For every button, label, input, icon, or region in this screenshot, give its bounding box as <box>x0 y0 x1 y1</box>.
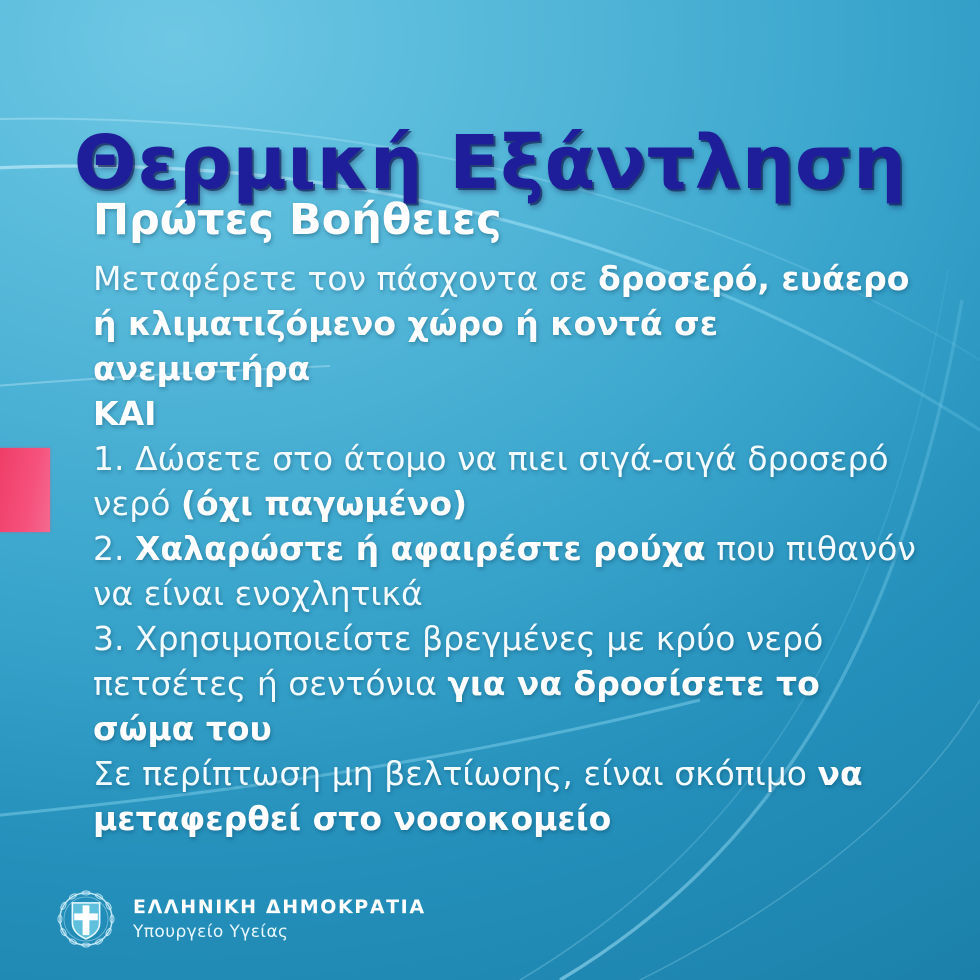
instruction-item-2: 2. Χαλαρώστε ή αφαιρέστε ρούχα που πιθαν… <box>93 526 920 616</box>
footer-text-group: ΕΛΛΗΝΙΚΗ ΔΗΜΟΚΡΑΤΙΑ Υπουργείο Υγείας <box>133 896 426 941</box>
item-1-bold: (όχι παγωμένο) <box>181 484 467 523</box>
instruction-item-3: 3. Χρησιμοποιείστε βρεγμένες με κρύο νερ… <box>93 616 920 751</box>
footer-branding: ΕΛΛΗΝΙΚΗ ΔΗΜΟΚΡΑΤΙΑ Υπουργείο Υγείας <box>55 888 426 950</box>
greek-coat-of-arms-icon <box>55 888 117 950</box>
closing-advice: Σε περίπτωση μη βελτίωσης, είναι σκόπιμο… <box>93 751 920 841</box>
conjunction-kai: ΚΑΙ <box>93 391 920 436</box>
pink-arrow-accent <box>0 448 50 532</box>
footer-ministry: Υπουργείο Υγείας <box>133 922 426 942</box>
section-subtitle: Πρώτες Βοήθειες <box>93 196 920 244</box>
closing-regular: Σε περίπτωση μη βελτίωσης, είναι σκόπιμο <box>93 754 817 793</box>
item-2-bold: Χαλαρώστε ή αφαιρέστε ρούχα <box>135 529 706 568</box>
instruction-item-1: 1. Δώσετε στο άτομο να πιει σιγά-σιγά δρ… <box>93 436 920 526</box>
instruction-transfer: Μεταφέρετε τον πάσχοντα σε δροσερό, ευάε… <box>93 256 920 391</box>
footer-organization: ΕΛΛΗΝΙΚΗ ΔΗΜΟΚΡΑΤΙΑ <box>133 896 426 918</box>
item-2-number: 2. <box>93 529 135 568</box>
page-title: Θερμική Εξάντληση <box>0 120 980 206</box>
poster-canvas: Θερμική Εξάντληση Πρώτες Βοήθειες Μεταφέ… <box>0 0 980 980</box>
instruction-transfer-regular: Μεταφέρετε τον πάσχοντα σε <box>93 259 598 298</box>
content-block: Πρώτες Βοήθειες Μεταφέρετε τον πάσχοντα … <box>93 196 920 841</box>
